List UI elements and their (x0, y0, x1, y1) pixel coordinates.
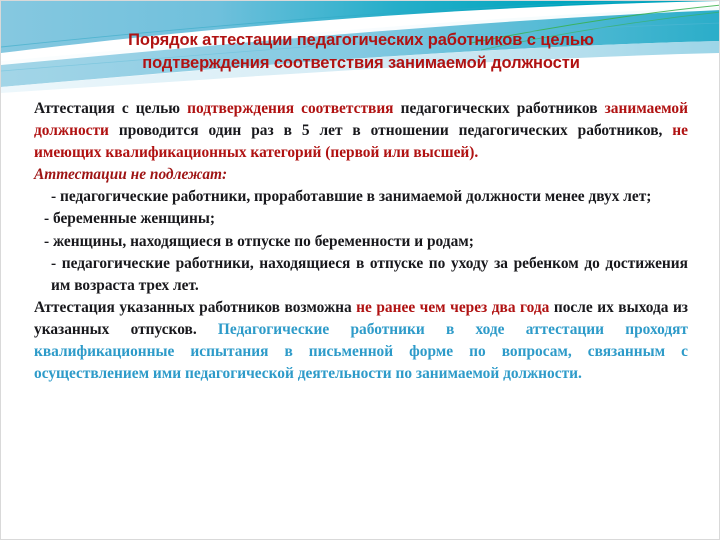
slide-body: Аттестация с целью подтверждения соответ… (34, 98, 688, 385)
paragraph-definition-seg2-red: подтверждения соответствия (187, 100, 393, 117)
page-title-line-2: подтверждения соответствия занимаемой до… (43, 52, 679, 75)
paragraph-definition-seg3: педагогических работников (394, 100, 605, 117)
paragraph-reattestation-seg2-red: не ранее чем через два года (356, 299, 549, 316)
exclusions-heading: Аттестации не подлежат: (34, 164, 688, 186)
page-title-line-1: Порядок аттестации педагогических работн… (43, 29, 679, 52)
paragraph-definition-seg5: проводится один раз в 5 лет в отношении … (109, 122, 672, 139)
list-item: - педагогические работники, находящиеся … (34, 253, 688, 297)
paragraph-definition-seg1: Аттестация с целью (34, 100, 187, 117)
paragraph-reattestation-seg1: Аттестация указанных работников возможна (34, 299, 356, 316)
paragraph-reattestation: Аттестация указанных работников возможна… (34, 297, 688, 385)
page-title: Порядок аттестации педагогических работн… (43, 29, 679, 75)
list-item: - беременные женщины; (34, 208, 688, 230)
slide-canvas: Порядок аттестации педагогических работн… (0, 0, 720, 540)
paragraph-definition: Аттестация с целью подтверждения соответ… (34, 98, 688, 164)
list-item: - педагогические работники, проработавши… (34, 186, 688, 208)
list-item: - женщины, находящиеся в отпуске по бере… (34, 231, 688, 253)
